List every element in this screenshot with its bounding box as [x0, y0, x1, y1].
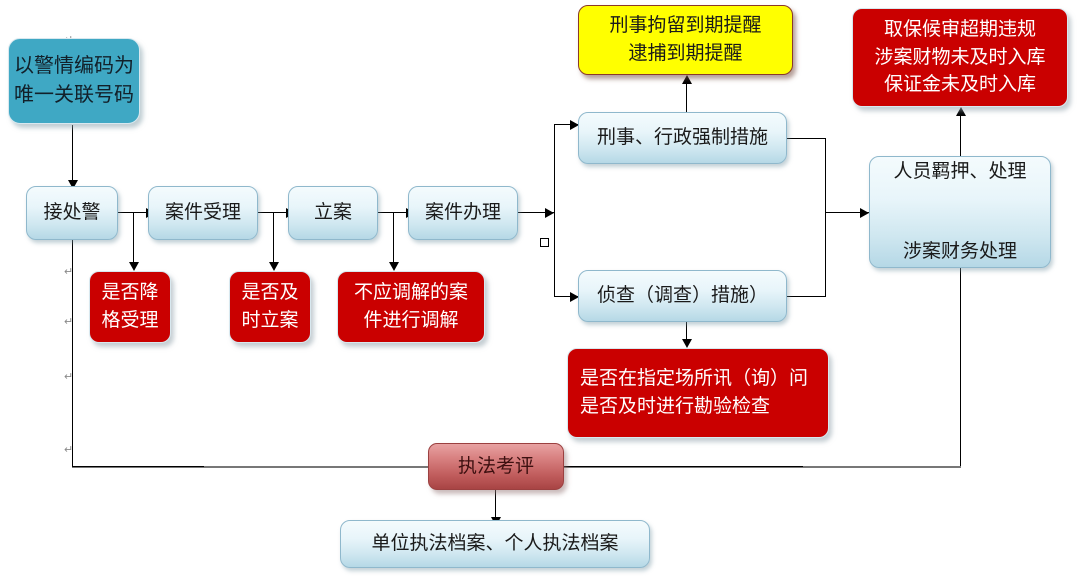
node-custody-handling-label: 人员羁押、处理 涉案财务处理 — [893, 152, 1026, 272]
edge-investigate-to-risk-arrow — [682, 339, 692, 348]
edge-custody-to-bail-alert-arrow — [956, 107, 966, 116]
node-archive[interactable]: 单位执法档案、个人执法档案 — [340, 520, 650, 568]
edge-evaluation-to-archive-line — [495, 490, 496, 520]
edge-acceptance-risk-vertical — [273, 212, 274, 265]
edge-acceptance-risk-arrow — [269, 262, 279, 271]
paragraph-mark: ↵ — [64, 370, 73, 383]
edge-custody-feedback-horizontal-dark — [563, 466, 803, 467]
node-detention-alert[interactable]: 刑事拘留到期提醒 逮捕到期提醒 — [578, 5, 793, 75]
node-case-handling-label: 案件办理 — [425, 199, 501, 227]
node-case-filing-label: 立案 — [314, 199, 352, 227]
paragraph-mark: ↵ — [64, 443, 73, 456]
node-bail-alert[interactable]: 取保候审超期违规 涉案财物未及时入库 保证金未及时入库 — [852, 8, 1068, 107]
node-start[interactable]: 以警情编码为 唯一关联号码 — [8, 38, 140, 124]
node-detention-alert-label: 刑事拘留到期提醒 逮捕到期提醒 — [609, 12, 761, 67]
node-case-filing[interactable]: 立案 — [288, 186, 378, 240]
node-investigation-measures[interactable]: 侦查（调查）措施） — [578, 270, 787, 322]
edge-merge-to-custody-arrow — [860, 208, 869, 218]
node-acceptance-label: 案件受理 — [165, 199, 241, 227]
edge-custody-to-bail-alert-line — [960, 112, 961, 156]
node-risk-downgrade-label: 是否降 格受理 — [101, 279, 158, 334]
node-dispatch[interactable]: 接处警 — [26, 186, 118, 240]
node-risk-interrogation-label: 是否在指定场所讯（询）问 是否及时进行勘验检查 — [580, 365, 808, 420]
node-risk-interrogation[interactable]: 是否在指定场所讯（询）问 是否及时进行勘验检查 — [567, 348, 829, 438]
edge-filing-risk-arrow — [389, 262, 399, 271]
edge-custody-feedback-vertical — [960, 268, 961, 466]
node-start-label: 以警情编码为 唯一关联号码 — [14, 52, 134, 110]
connector-handle[interactable] — [540, 238, 549, 247]
edge-handling-to-split-arrow — [545, 208, 554, 218]
edge-merge-spine — [825, 138, 826, 296]
edge-filing-risk-vertical — [393, 212, 394, 265]
flowchart-canvas: ↵ ↵ ↵ ↵ ↵ 以警情编码为 唯一关联号码 接处警 案件受理 立案 案件办理… — [0, 0, 1079, 580]
node-risk-downgrade[interactable]: 是否降 格受理 — [89, 271, 171, 343]
edge-dispatch-risk-arrow — [129, 262, 139, 271]
node-risk-filing[interactable]: 是否及 时立案 — [229, 271, 311, 343]
node-coercive-measures[interactable]: 刑事、行政强制措施 — [578, 112, 787, 164]
node-risk-mediation-label: 不应调解的案 件进行调解 — [354, 279, 468, 334]
paragraph-mark: ↵ — [64, 265, 73, 278]
node-custody-handling[interactable]: 人员羁押、处理 涉案财务处理 — [869, 156, 1051, 268]
edge-coercive-to-merge-line — [787, 138, 826, 139]
paragraph-mark: ↵ — [64, 315, 73, 328]
node-case-handling[interactable]: 案件办理 — [408, 186, 518, 240]
node-risk-filing-label: 是否及 时立案 — [241, 279, 298, 334]
node-investigation-measures-label: 侦查（调查）措施） — [597, 282, 768, 310]
node-archive-label: 单位执法档案、个人执法档案 — [371, 530, 618, 558]
edge-dispatch-feedback-horizontal-dark — [72, 466, 204, 467]
node-dispatch-label: 接处警 — [43, 199, 100, 227]
node-risk-mediation[interactable]: 不应调解的案 件进行调解 — [337, 271, 485, 343]
node-law-enforcement-evaluation[interactable]: 执法考评 — [428, 443, 564, 490]
edge-start-to-dispatch-line — [72, 125, 73, 183]
edge-split-spine — [554, 124, 555, 296]
node-acceptance[interactable]: 案件受理 — [148, 186, 258, 240]
edge-coercive-to-alert-arrow — [682, 75, 692, 84]
node-bail-alert-label: 取保候审超期违规 涉案财物未及时入库 保证金未及时入库 — [874, 16, 1045, 99]
node-law-enforcement-evaluation-label: 执法考评 — [458, 453, 534, 481]
edge-investigate-to-merge-line — [787, 296, 826, 297]
edge-coercive-to-alert-line — [686, 80, 687, 112]
edge-dispatch-risk-vertical — [133, 212, 134, 265]
node-coercive-measures-label: 刑事、行政强制措施 — [597, 124, 768, 152]
